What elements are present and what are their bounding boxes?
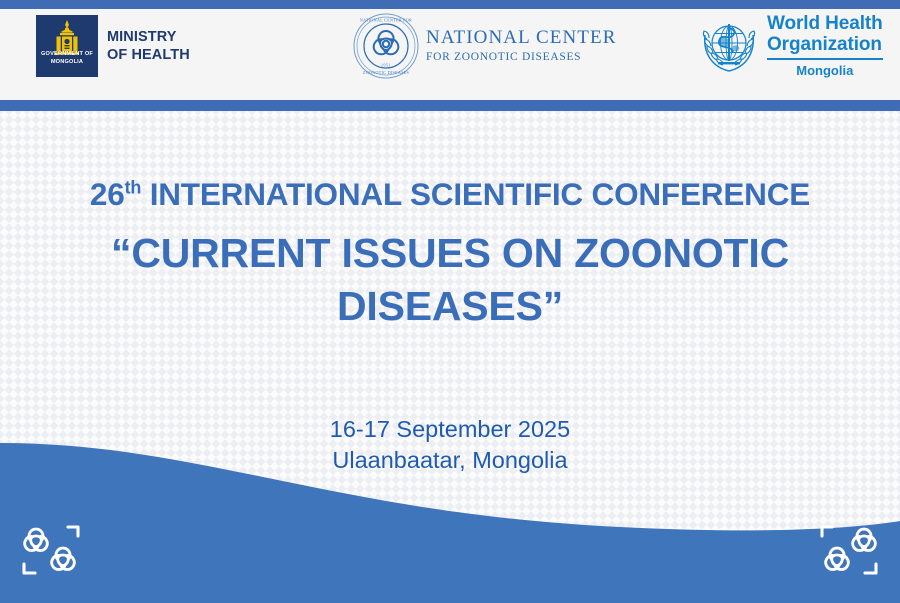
ministry-of-health-name: MINISTRY OF HEALTH <box>107 28 190 64</box>
logo-ministry-of-health: GOVERNMENT OF MONGOLIA MINISTRY OF HEALT… <box>36 0 190 91</box>
mongolian-knot-icon-right <box>808 523 884 581</box>
ministry-name-line2: OF HEALTH <box>107 46 190 64</box>
wave-blue-band <box>0 443 900 603</box>
nczd-name-line2: FOR ZOONOTIC DISEASES <box>426 51 616 63</box>
logo-who-mongolia: World Health Organization Mongolia <box>698 0 883 91</box>
nczd-seal-icon: NATIONAL CENTER FOR ZOONOTIC DISEASES 19… <box>352 12 420 80</box>
conference-theme-line1: “CURRENT ISSUES ON ZOONOTIC <box>0 227 900 280</box>
svg-text:NATIONAL CENTER FOR: NATIONAL CENTER FOR <box>360 17 412 22</box>
conference-theme-line2: DISEASES” <box>0 280 900 333</box>
who-divider-rule <box>767 58 883 60</box>
mongolian-knot-icon-left <box>16 523 92 581</box>
bottom-wave-decoration <box>0 443 900 603</box>
ministry-name-line1: MINISTRY <box>107 28 190 46</box>
logo-national-center-zoonotic-diseases: NATIONAL CENTER FOR ZOONOTIC DISEASES 19… <box>352 0 616 91</box>
ordinal-number: 26 <box>90 176 125 212</box>
who-name: World Health Organization Mongolia <box>767 13 883 78</box>
mongolia-state-emblem-icon: GOVERNMENT OF MONGOLIA <box>36 15 98 77</box>
emblem-caption-line2: MONGOLIA <box>36 59 98 67</box>
nczd-name-line1: NATIONAL CENTER <box>426 28 616 49</box>
conference-theme: “CURRENT ISSUES ON ZOONOTIC DISEASES” <box>0 227 900 333</box>
emblem-caption: GOVERNMENT OF MONGOLIA <box>36 51 98 66</box>
who-emblem-icon <box>698 15 760 77</box>
conference-banner: GOVERNMENT OF MONGOLIA MINISTRY OF HEALT… <box>0 0 900 603</box>
event-dates: 16-17 September 2025 <box>0 414 900 445</box>
nczd-name: NATIONAL CENTER FOR ZOONOTIC DISEASES <box>426 28 616 63</box>
ordinal-suffix: th <box>125 178 142 198</box>
who-name-line2: Organization <box>767 34 883 55</box>
svg-text:ZOONOTIC DISEASES: ZOONOTIC DISEASES <box>363 70 410 75</box>
title-block: 26th INTERNATIONAL SCIENTIFIC CONFERENCE… <box>0 176 900 333</box>
svg-text:1951: 1951 <box>381 62 391 67</box>
emblem-caption-line1: GOVERNMENT OF <box>36 51 98 59</box>
conference-line-rest: INTERNATIONAL SCIENTIFIC CONFERENCE <box>141 176 810 212</box>
who-country-label: Mongolia <box>767 63 883 78</box>
who-name-line1: World Health <box>767 13 883 34</box>
conference-ordinal-line: 26th INTERNATIONAL SCIENTIFIC CONFERENCE <box>0 176 900 213</box>
logo-band-divider-bar <box>0 100 900 111</box>
